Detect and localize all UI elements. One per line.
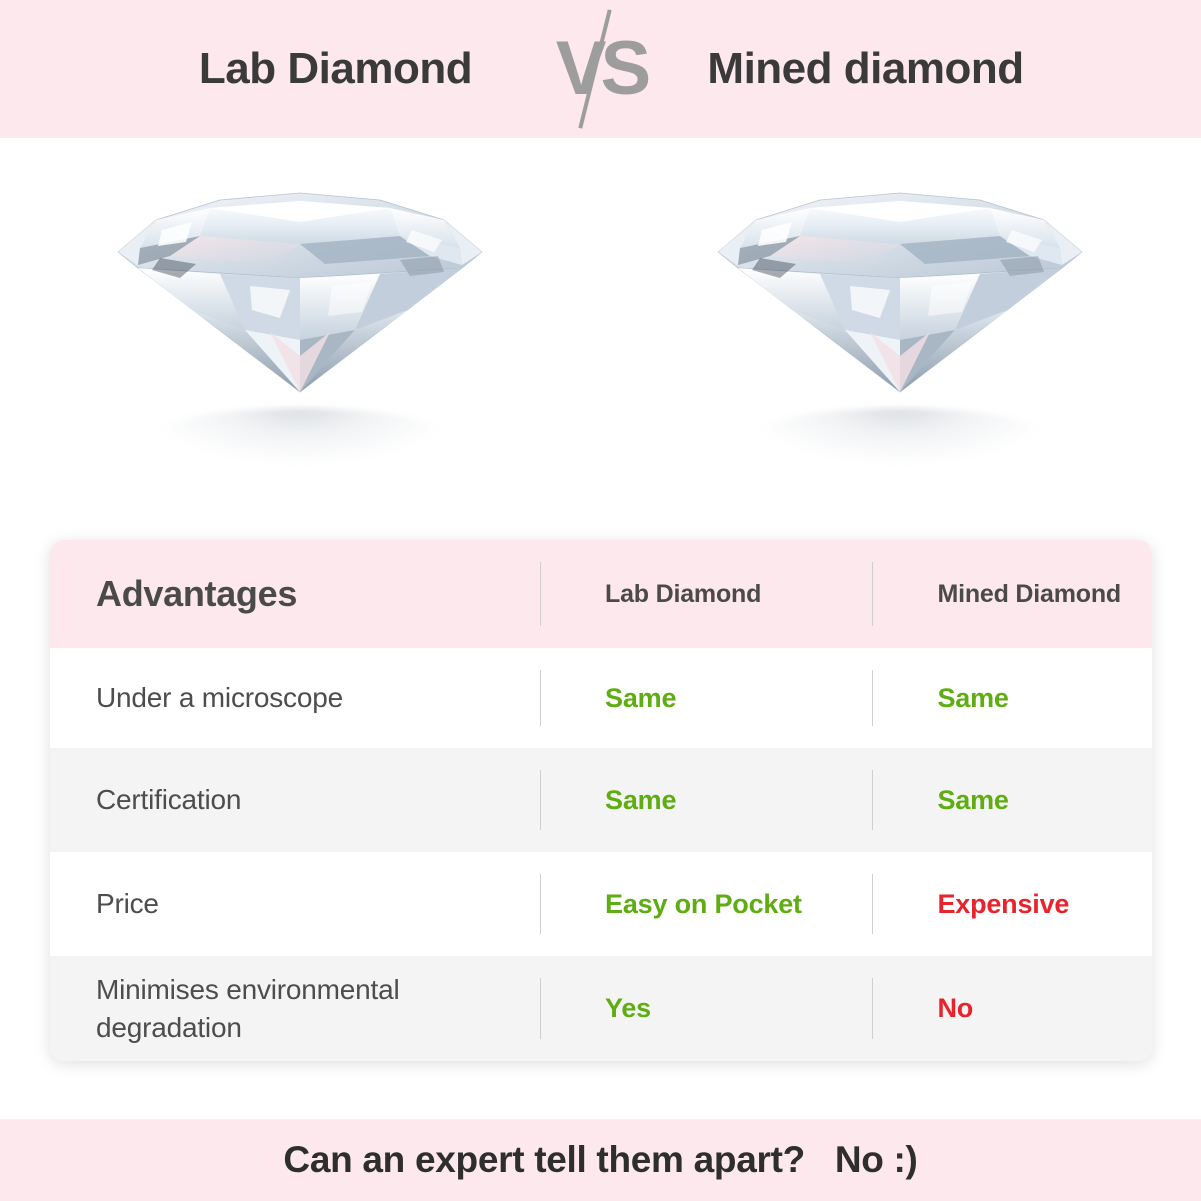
lab-diamond-image-cell xyxy=(0,138,600,530)
versus-badge: VS xyxy=(546,0,656,138)
mined-diamond-title: Mined diamond xyxy=(656,44,1076,94)
column-header-mined-diamond: Mined Diamond xyxy=(873,580,1152,609)
mined-diamond-image xyxy=(700,160,1100,460)
row-label: Minimises environmental degradation xyxy=(50,971,540,1047)
row-value-mined: Same xyxy=(873,785,1152,816)
mined-diamond-image-cell xyxy=(600,138,1200,530)
row-label: Under a microscope xyxy=(50,679,540,717)
table-row: Price Easy on Pocket Expensive xyxy=(50,852,1152,956)
row-value-lab: Same xyxy=(541,683,872,714)
row-value-lab: Easy on Pocket xyxy=(541,889,872,920)
row-value-mined: Same xyxy=(873,683,1152,714)
footer-question-answer: Can an expert tell them apart? No :) xyxy=(283,1139,917,1181)
table-row: Under a microscope Same Same xyxy=(50,648,1152,748)
footer-banner: Can an expert tell them apart? No :) xyxy=(0,1119,1201,1201)
row-label: Price xyxy=(50,885,540,923)
diamond-reflection xyxy=(155,408,445,462)
comparison-table: Advantages Lab Diamond Mined Diamond Und… xyxy=(50,540,1152,1061)
row-value-lab: Yes xyxy=(541,993,872,1024)
top-title-banner: Lab Diamond VS Mined diamond xyxy=(0,0,1201,138)
table-row: Certification Same Same xyxy=(50,748,1152,852)
lab-diamond-title: Lab Diamond xyxy=(126,44,546,94)
table-header-row: Advantages Lab Diamond Mined Diamond xyxy=(50,540,1152,648)
diamond-reflection xyxy=(755,408,1045,462)
column-header-lab-diamond: Lab Diamond xyxy=(541,580,872,609)
lab-diamond-image xyxy=(100,160,500,460)
row-value-mined: No xyxy=(873,993,1152,1024)
row-value-mined: Expensive xyxy=(873,889,1152,920)
diamond-icon xyxy=(700,160,1100,420)
row-label: Certification xyxy=(50,781,540,819)
diamond-icon xyxy=(100,160,500,420)
column-header-advantages: Advantages xyxy=(50,573,540,615)
diamond-images-section xyxy=(0,138,1201,530)
table-row: Minimises environmental degradation Yes … xyxy=(50,956,1152,1061)
row-value-lab: Same xyxy=(541,785,872,816)
